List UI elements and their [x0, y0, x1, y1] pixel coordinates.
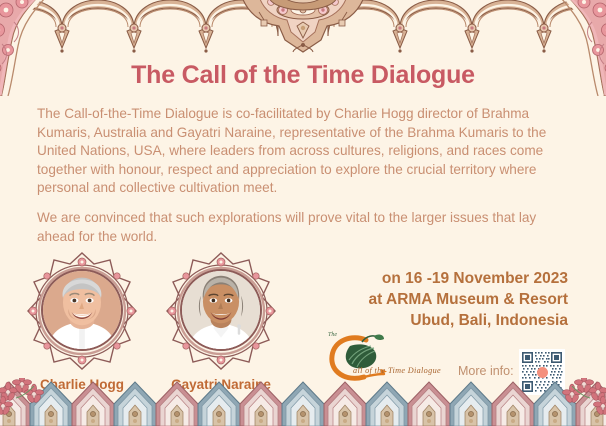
description-paragraph-1: The Call-of-the-Time Dialogue is co-faci… [37, 105, 571, 198]
portrait-frame [24, 252, 140, 370]
qr-center-flower-icon [537, 367, 548, 378]
call-of-the-time-logo: The all of the Time Dialogue [322, 330, 440, 388]
event-location: Ubud, Bali, Indonesia [306, 310, 568, 331]
speaker-name: Charlie Hogg [24, 377, 140, 392]
qr-code[interactable] [519, 349, 565, 395]
event-dates: on 16 -19 November 2023 [306, 268, 568, 289]
speakers-section: Charlie Hogg [24, 252, 314, 412]
logo-prefix: The [328, 332, 337, 338]
top-border-ornament [0, 0, 606, 58]
poster-canvas: The Call of the Time Dialogue The Call-o… [0, 0, 606, 426]
logo-script-text: all of the Time Dialogue [353, 366, 441, 375]
speaker-gayatri-naraine: Gayatri Naraine [163, 252, 279, 392]
speaker-name: Gayatri Naraine [163, 377, 279, 392]
description-block: The Call-of-the-Time Dialogue is co-faci… [37, 105, 571, 257]
event-venue: at ARMA Museum & Resort [306, 289, 568, 310]
page-title: The Call of the Time Dialogue [0, 61, 606, 90]
more-info-label: More info: [458, 364, 514, 378]
portrait-charlie-hogg [41, 269, 123, 351]
portrait-gayatri-naraine [180, 269, 262, 351]
speaker-charlie-hogg: Charlie Hogg [24, 252, 140, 392]
portrait-frame [163, 252, 279, 370]
event-details: on 16 -19 November 2023 at ARMA Museum &… [306, 268, 568, 331]
description-paragraph-2: We are convinced that such explorations … [37, 209, 571, 246]
